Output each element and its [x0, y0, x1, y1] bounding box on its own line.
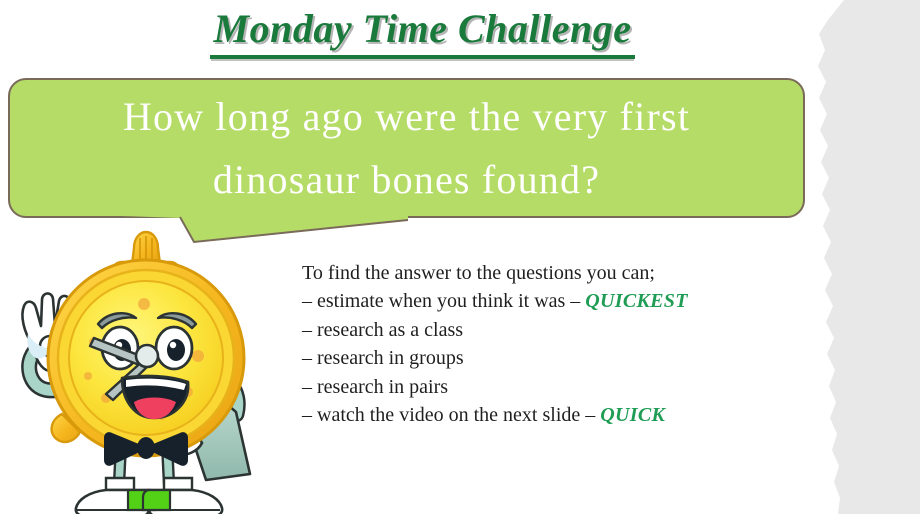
question-speech-bubble: How long ago were the very first dinosau…: [8, 78, 805, 218]
torn-paper-edge-decoration: [810, 0, 920, 514]
list-item-text: – research in pairs: [302, 376, 448, 398]
list-item: – research in pairs: [302, 373, 822, 401]
list-item-text: – watch the video on the next slide –: [302, 404, 600, 426]
question-text: How long ago were the very first dinosau…: [10, 85, 803, 211]
list-item: – estimate when you think it was – QUICK…: [302, 287, 822, 315]
slide-title: Monday Time Challenge: [210, 6, 636, 59]
list-item-text: – research in groups: [302, 347, 464, 369]
list-item-highlight: QUICKEST: [585, 290, 687, 312]
slide-canvas: Monday Time Challenge How long ago were …: [0, 0, 920, 514]
list-item: – watch the video on the next slide – QU…: [302, 401, 822, 429]
mascot-shoes: [76, 478, 222, 514]
list-item-highlight: QUICK: [600, 404, 665, 426]
instructions-block: To find the answer to the questions you …: [302, 259, 822, 429]
slide-title-container: Monday Time Challenge: [0, 6, 845, 59]
clock-character-mascot: [2, 226, 290, 514]
list-item: – research in groups: [302, 344, 822, 372]
instructions-intro: To find the answer to the questions you …: [302, 259, 822, 287]
list-item: – research as a class: [302, 316, 822, 344]
list-item-text: – estimate when you think it was –: [302, 290, 585, 312]
bow-tie: [105, 433, 187, 465]
list-item-text: – research as a class: [302, 319, 463, 341]
